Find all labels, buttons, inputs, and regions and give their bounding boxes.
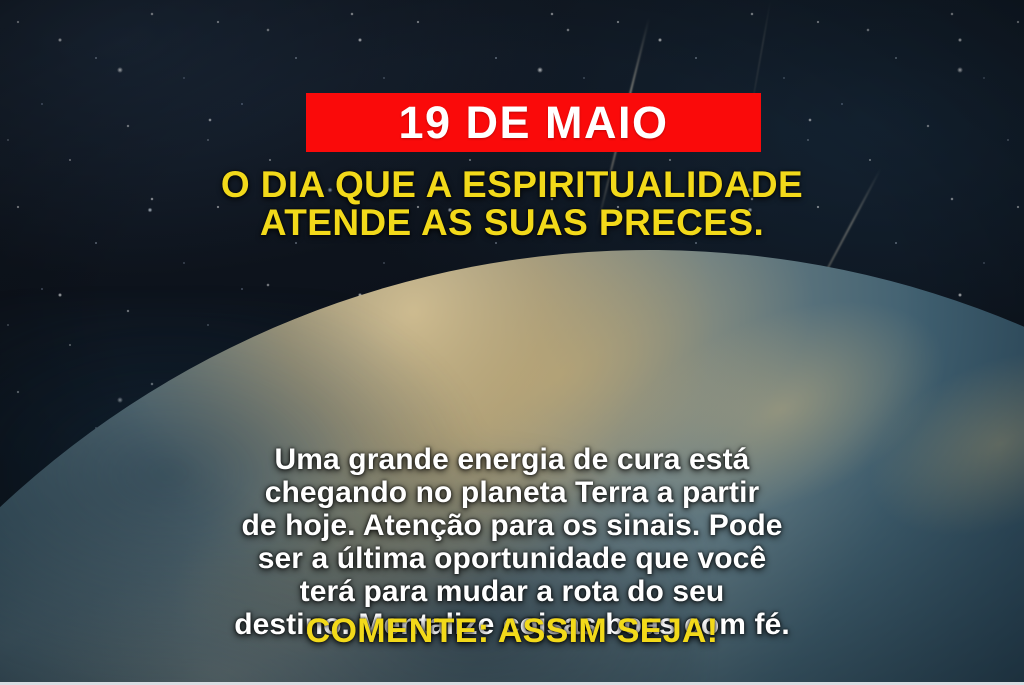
body-line-4: ser a última oportunidade que você xyxy=(52,542,972,575)
call-to-action-text: COMENTE: ASSIM SEJA! xyxy=(0,613,1024,649)
body-line-1: Uma grande energia de cura está xyxy=(52,443,972,476)
body-line-3: de hoje. Atenção para os sinais. Pode xyxy=(52,509,972,542)
poster-canvas: 19 DE MAIO O DIA QUE A ESPIRITUALIDADE A… xyxy=(0,0,1024,685)
date-banner-text: 19 DE MAIO xyxy=(398,100,668,145)
date-banner: 19 DE MAIO xyxy=(306,93,761,152)
headline-line-2: ATENDE AS SUAS PRECES. xyxy=(0,204,1024,242)
headline-line-1: O DIA QUE A ESPIRITUALIDADE xyxy=(0,166,1024,204)
body-line-5: terá para mudar a rota do seu xyxy=(52,575,972,608)
headline: O DIA QUE A ESPIRITUALIDADE ATENDE AS SU… xyxy=(0,166,1024,242)
poster-content: 19 DE MAIO O DIA QUE A ESPIRITUALIDADE A… xyxy=(0,0,1024,685)
body-line-2: chegando no planeta Terra a partir xyxy=(52,476,972,509)
